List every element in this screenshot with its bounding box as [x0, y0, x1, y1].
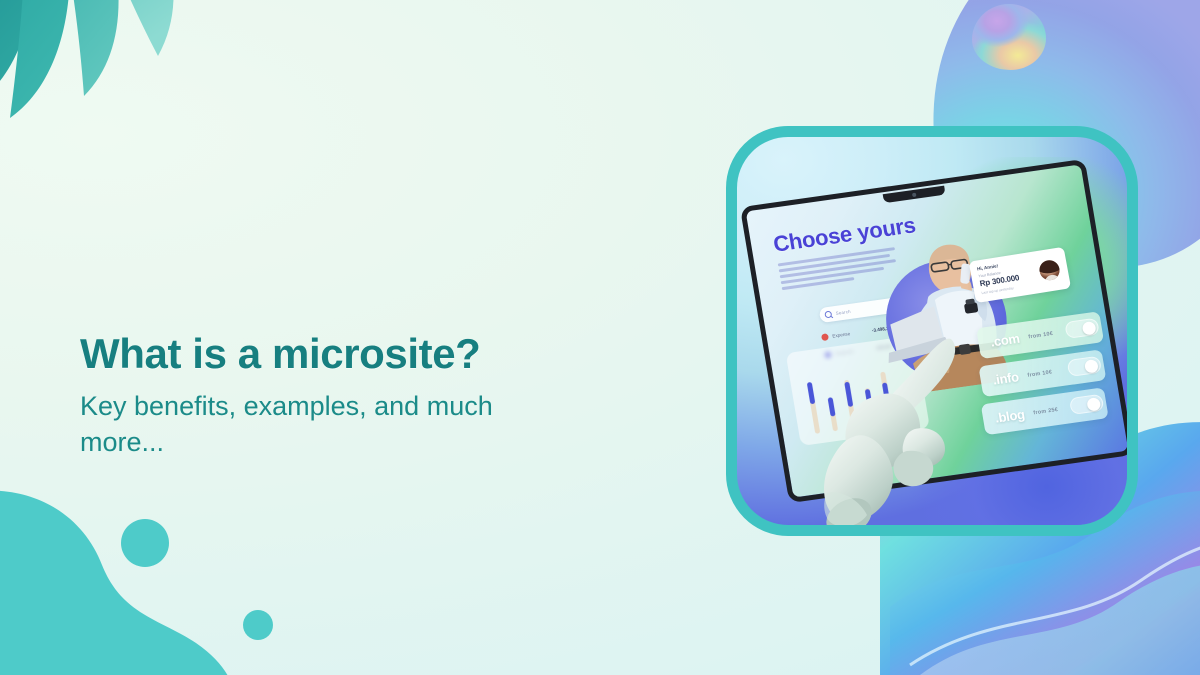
toggle-knob	[1086, 397, 1101, 412]
pointing-hand-3d	[819, 333, 1003, 536]
webcam-notch	[883, 186, 946, 204]
iridescent-sphere-shape	[972, 4, 1046, 70]
circle-shape	[121, 519, 169, 567]
search-placeholder: Search	[835, 309, 851, 316]
organic-blob-shape	[0, 457, 320, 675]
page-subtitle: Key benefits, examples, and much more...	[80, 389, 560, 460]
toggle-knob	[1084, 359, 1099, 374]
search-icon	[824, 311, 832, 319]
toggle-knob	[1082, 321, 1097, 336]
slide-canvas: What is a microsite? Key benefits, examp…	[0, 0, 1200, 675]
domain-price: from 10€	[1027, 369, 1053, 378]
circle-shape	[243, 610, 273, 640]
hero-mockup-frame: Choose yours Search Expense -3.498,31	[726, 126, 1138, 536]
page-title: What is a microsite?	[80, 330, 600, 377]
fan-petals-shape	[0, 0, 226, 168]
domain-price: from 10€	[1028, 330, 1054, 339]
chart-bar-value	[807, 382, 816, 405]
domain-price: from 25€	[1033, 406, 1059, 415]
headline-block: What is a microsite? Key benefits, examp…	[80, 330, 600, 460]
